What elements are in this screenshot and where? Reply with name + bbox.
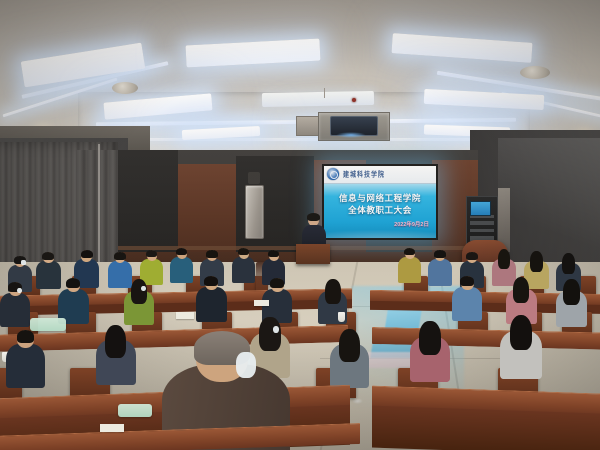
audience-hair-long (325, 279, 341, 304)
audience-hair-long (498, 249, 511, 269)
seated-audience-member (428, 250, 452, 288)
seated-audience-member (556, 280, 587, 330)
audience-hair-short (404, 248, 415, 256)
seated-audience-member (500, 316, 542, 383)
seated-audience-member (232, 248, 255, 285)
audience-hair-short (204, 276, 218, 286)
seated-audience-member (124, 280, 154, 328)
audience-hair-short (268, 250, 279, 258)
audience-hair-short (42, 252, 54, 260)
seated-audience-member (0, 282, 30, 330)
audience-torso (36, 261, 61, 289)
lecture-hall-photo: 建城科技学院 信息与网络工程学院 全体教职工大会 2022年9月2日 (0, 0, 600, 450)
audience-torso (170, 257, 193, 284)
audience-hair-short (460, 276, 474, 286)
audience-hair-short (238, 248, 249, 256)
audience-hair-long (131, 279, 147, 304)
audience-torso (428, 259, 452, 286)
face-mask (21, 260, 25, 265)
audience-hair-long (530, 251, 543, 272)
drink-cup (338, 312, 345, 322)
audience-hair-long (339, 329, 360, 362)
audience-hair-long (105, 325, 126, 358)
audience-hair-long (563, 279, 580, 305)
paper-on-desk (100, 424, 124, 432)
seated-audience-member (170, 248, 193, 285)
audience-hair-short (466, 252, 477, 260)
audience-hair-short (17, 330, 35, 343)
audience-torso (6, 344, 45, 388)
face-mask (236, 352, 256, 378)
audience-hair-short (434, 250, 445, 258)
seated-audience-member (410, 322, 450, 386)
seated-audience-member (96, 326, 136, 389)
seated-audience-member (452, 276, 482, 324)
audience-hair-short (146, 250, 157, 258)
audience-torso (0, 293, 30, 327)
audience-hair-long (419, 321, 440, 355)
audience-hair-short (66, 278, 80, 288)
audience-hair-short (206, 250, 217, 258)
audience-hair-long (510, 315, 532, 350)
audience-torso (398, 257, 421, 284)
audience-hair-long (513, 277, 529, 303)
seated-audience-member (196, 276, 227, 325)
audience-torso (196, 287, 227, 322)
seated-audience-member (36, 252, 61, 291)
desk-front-panel (372, 406, 600, 450)
paper-on-desk (176, 312, 194, 319)
seated-audience-member (330, 330, 369, 392)
audience-torso (452, 287, 482, 321)
mask-bag-foreground (118, 404, 152, 417)
paper-on-desk (254, 300, 269, 306)
seated-audience-member (6, 330, 45, 392)
audience-hair-long (562, 253, 575, 274)
seated-audience-member (398, 248, 421, 285)
audience-torso (232, 257, 255, 284)
audience-hair-short (176, 248, 187, 256)
audience-hair-short (270, 278, 284, 288)
audience-hair-short (114, 252, 125, 260)
audience-hair-short (81, 250, 93, 258)
